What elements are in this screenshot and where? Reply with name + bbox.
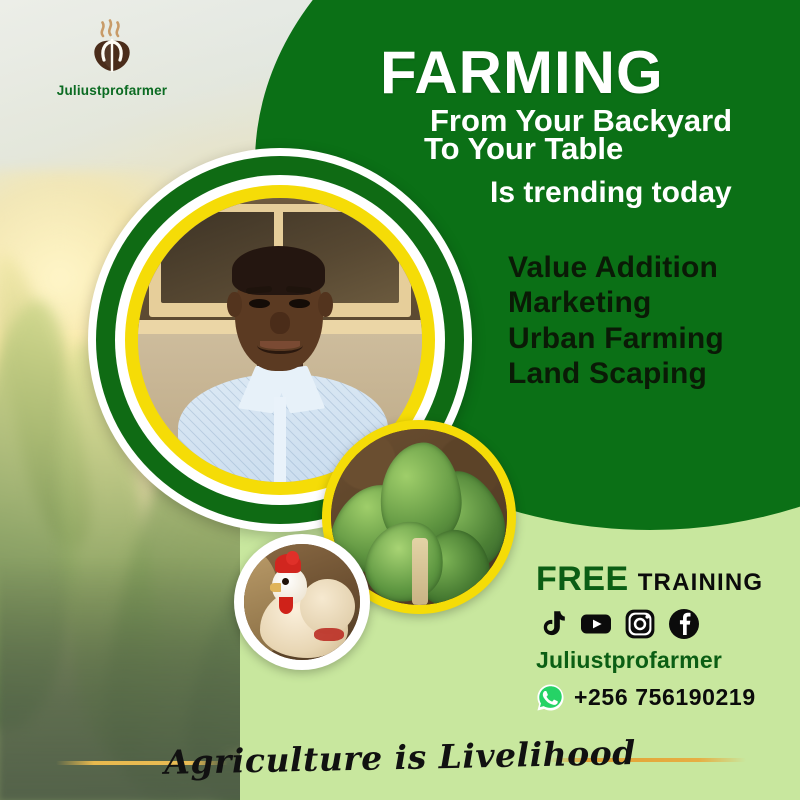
whatsapp-icon[interactable]: [536, 683, 565, 712]
free-training-line: FREE TRAINING: [536, 560, 800, 599]
youtube-icon[interactable]: [580, 608, 612, 640]
whatsapp-row[interactable]: +256 756190219: [536, 683, 800, 712]
service-item: Marketing: [508, 285, 798, 320]
coffee-bean-leaf-logo-icon: [81, 14, 143, 76]
instagram-icon[interactable]: [624, 608, 656, 640]
phone-number: +256 756190219: [574, 684, 756, 711]
social-handle: Juliustprofarmer: [536, 647, 800, 674]
contact-block: FREE TRAINING Juli: [536, 560, 800, 712]
brand-logo-name: Juliustprofarmer: [32, 83, 192, 98]
service-item: Land Scaping: [508, 356, 798, 391]
services-list: Value Addition Marketing Urban Farming L…: [508, 250, 798, 392]
tagline-text: Agriculture is Livelihood: [0, 730, 800, 786]
headline-line3: To Your Table: [424, 133, 790, 165]
service-item: Value Addition: [508, 250, 798, 285]
headline-line4: Is trending today: [490, 178, 790, 208]
tagline-band: Agriculture is Livelihood: [0, 724, 800, 800]
chicken-circle-frame: [234, 534, 370, 670]
service-item: Urban Farming: [508, 321, 798, 356]
social-icons-row: [536, 608, 800, 640]
free-label: FREE: [536, 560, 629, 599]
tiktok-icon[interactable]: [536, 608, 568, 640]
chicken-photo: [244, 544, 360, 660]
training-label: TRAINING: [638, 569, 764, 597]
poster-canvas: Juliustprofarmer FARMING From Your Backy…: [0, 0, 800, 800]
brand-logo[interactable]: Juliustprofarmer: [32, 14, 192, 98]
headline-block: FARMING From Your Backyard To Your Table…: [372, 44, 790, 208]
headline-farming: FARMING: [380, 44, 790, 103]
facebook-icon[interactable]: [668, 608, 700, 640]
